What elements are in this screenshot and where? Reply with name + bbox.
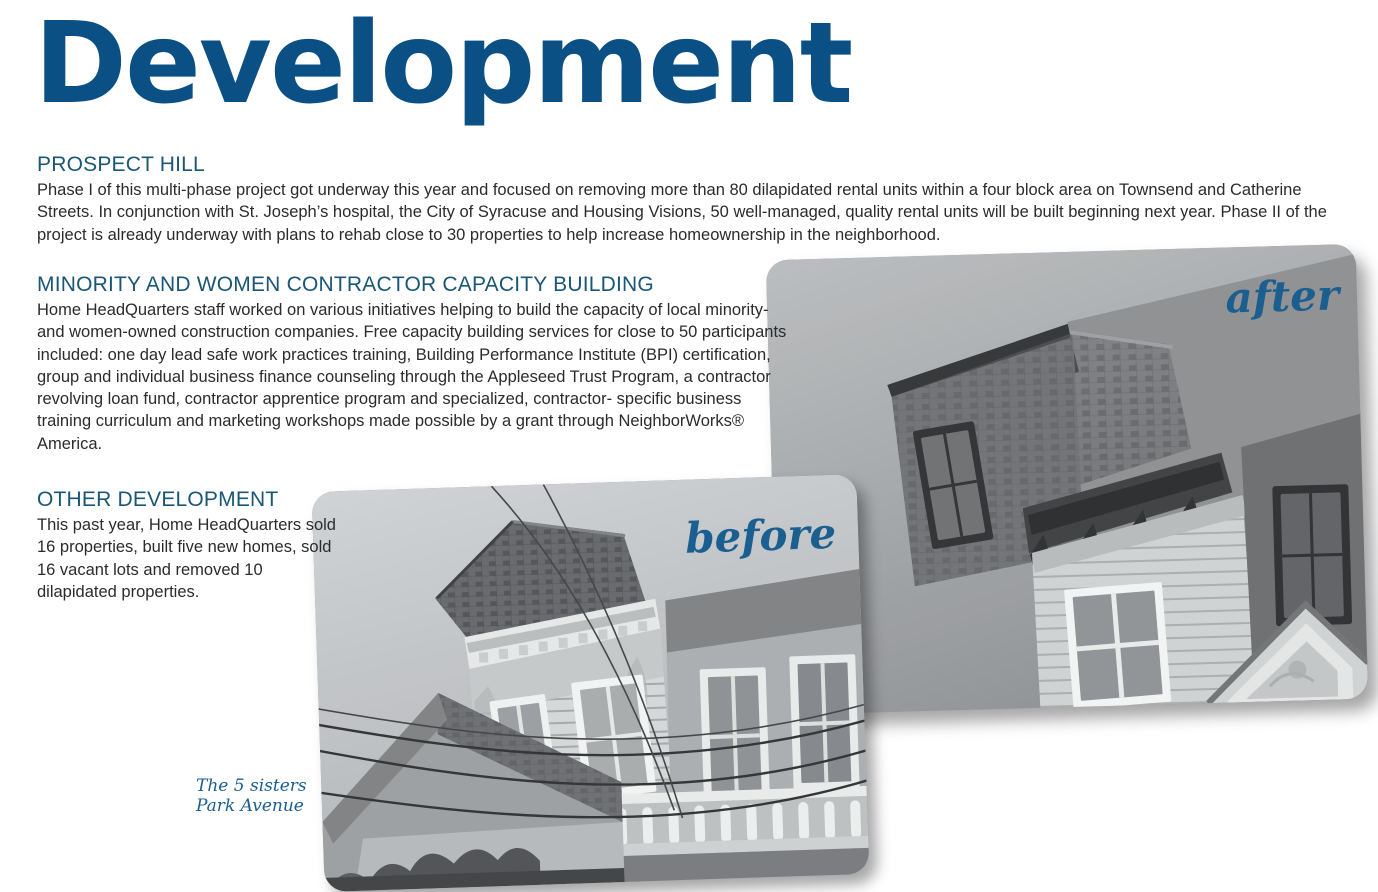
photo-label-before: before: [684, 509, 837, 563]
section-body-prospect-hill: Phase I of this multi-phase project got …: [37, 179, 1362, 246]
page-title: Development: [34, 8, 851, 120]
section-heading-prospect-hill: PROSPECT HILL: [37, 152, 1362, 177]
section-heading-minority-women-contractor: MINORITY AND WOMEN CONTRACTOR CAPACITY B…: [37, 272, 789, 297]
photo-caption-five-sisters: The 5 sisters Park Avenue: [196, 776, 307, 816]
section-prospect-hill: PROSPECT HILL Phase I of this multi-phas…: [37, 152, 1362, 246]
photo-label-after: after: [1225, 270, 1340, 322]
section-heading-other-development: OTHER DEVELOPMENT: [37, 487, 337, 512]
section-minority-women-contractor: MINORITY AND WOMEN CONTRACTOR CAPACITY B…: [37, 272, 789, 455]
photo-before: before: [312, 474, 870, 892]
section-body-other-development: This past year, Home HeadQuarters sold 1…: [37, 514, 337, 603]
section-body-minority-women-contractor: Home HeadQuarters staff worked on variou…: [37, 299, 789, 455]
section-other-development: OTHER DEVELOPMENT This past year, Home H…: [37, 487, 337, 603]
